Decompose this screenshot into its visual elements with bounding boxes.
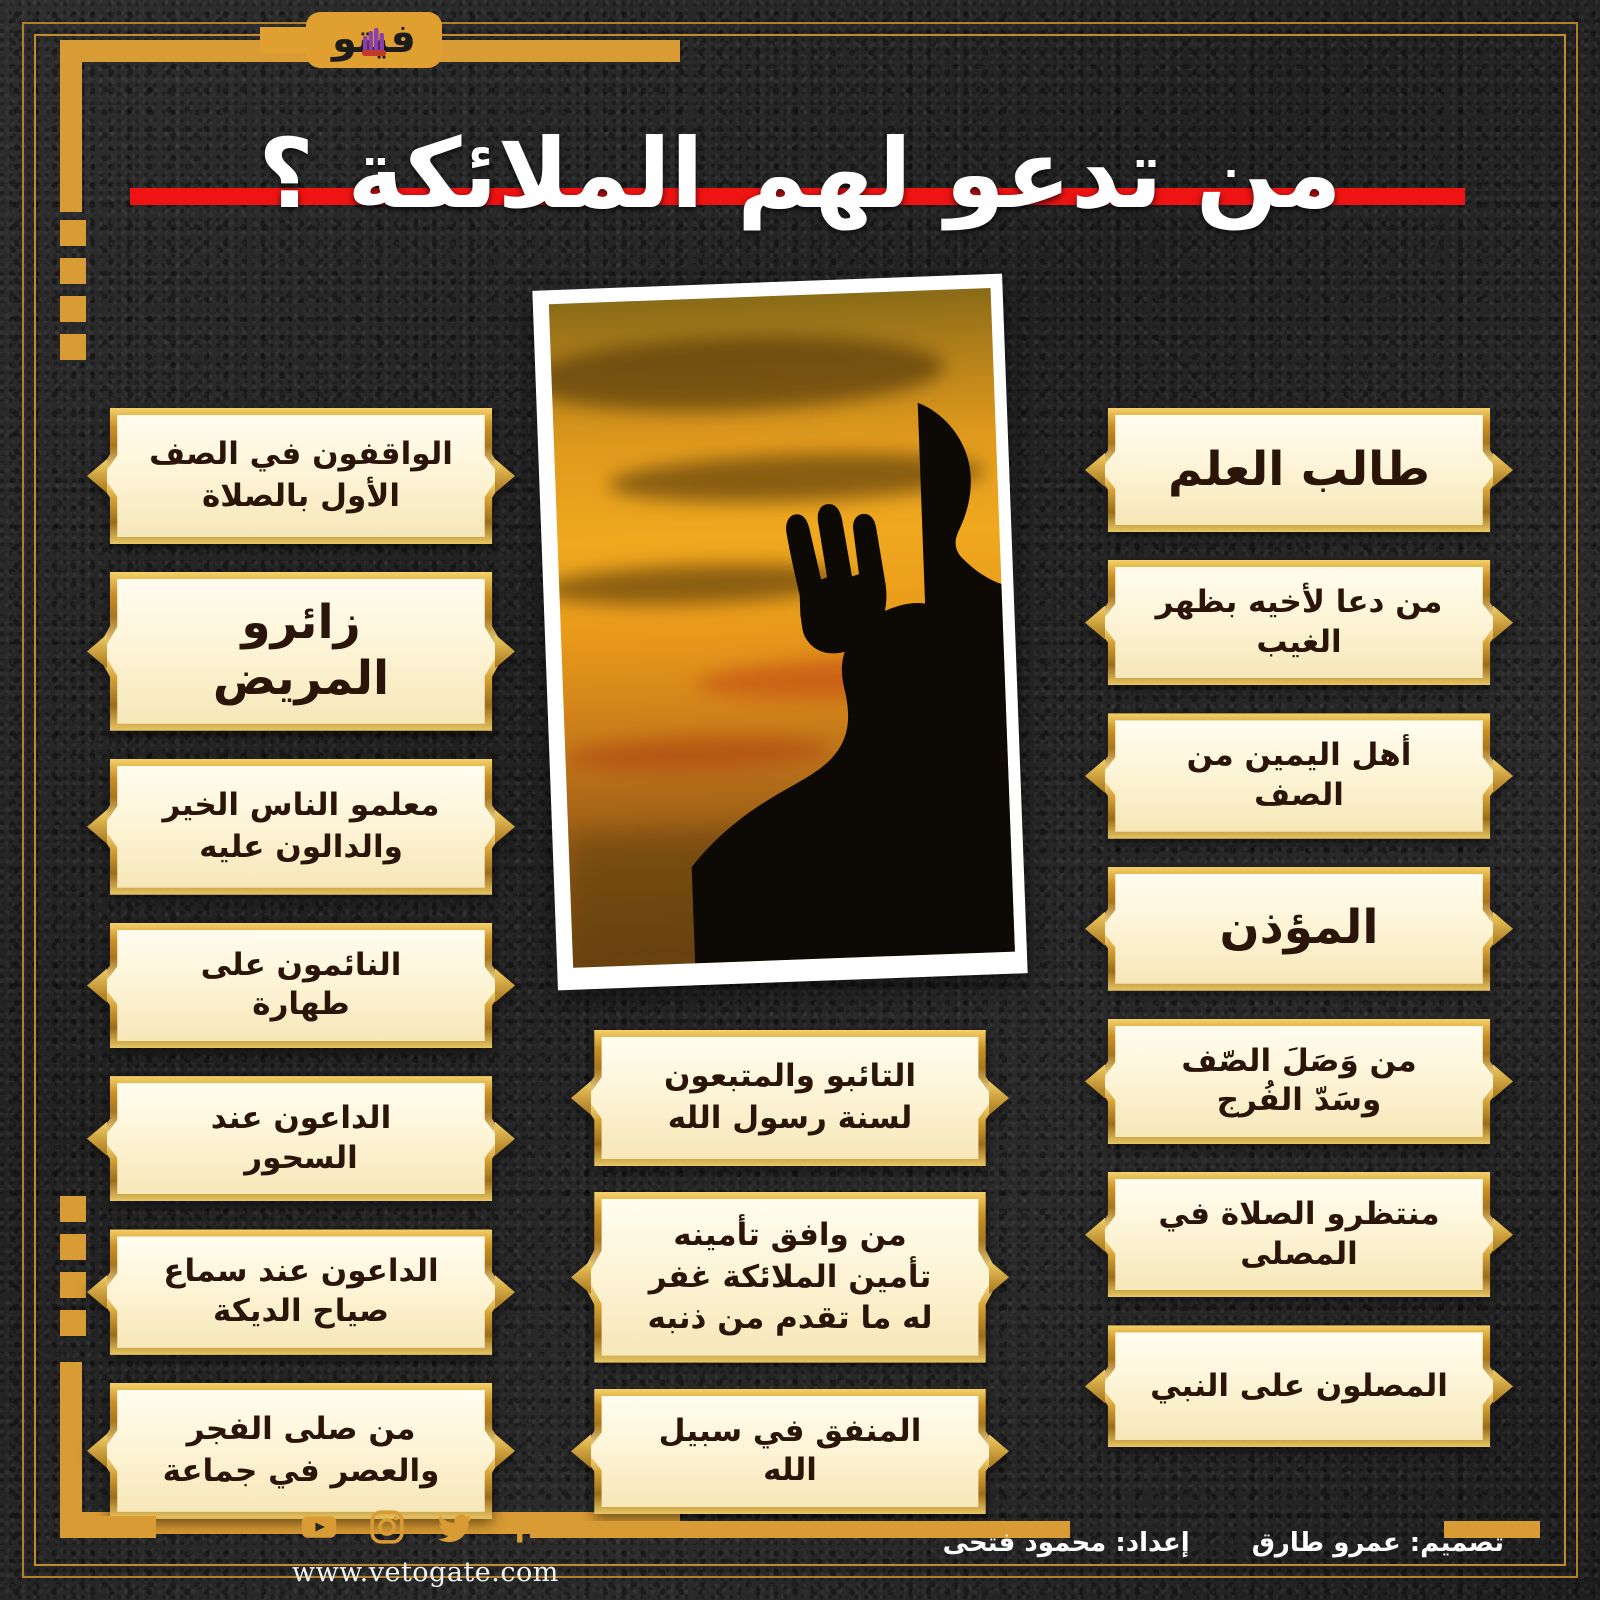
badge-point-left — [87, 810, 107, 844]
badge-label: معلمو الناس الخير والدالون عليه — [103, 766, 499, 888]
website-url[interactable]: www.vetogate.com — [292, 1557, 559, 1588]
badge-item: الداعون عند سماع صياح الديكة — [96, 1229, 506, 1354]
badge-point-right — [1493, 759, 1513, 793]
social-links — [300, 1508, 542, 1546]
badge-point-left — [1085, 1369, 1105, 1403]
logo-badge: فيتو — [306, 12, 442, 68]
hero-photo — [532, 274, 1027, 991]
badge-frame: النائمون على طهارة — [96, 923, 506, 1048]
badge-frame: الداعون عند سماع صياح الديكة — [96, 1229, 506, 1354]
badge-frame: زائرو المريض — [96, 572, 506, 731]
facebook-icon[interactable] — [504, 1508, 542, 1546]
badge-frame: منتظرو الصلاة في المصلى — [1094, 1172, 1504, 1297]
badge-point-right — [495, 459, 515, 493]
badge-item: من وَصَلَ الصّف وسَدّ الفُرج — [1094, 1019, 1504, 1144]
badge-label: من دعا لأخيه بظهر الغيب — [1101, 567, 1497, 678]
hand-icon — [361, 24, 387, 58]
badge-point-left — [87, 1434, 107, 1468]
badge-label: الواقفون في الصف الأول بالصلاة — [103, 415, 499, 537]
badge-frame: التائبو والمتبعون لسنة رسول الله — [580, 1030, 1000, 1166]
instagram-icon[interactable] — [368, 1508, 406, 1546]
badge-item: طالب العلم — [1094, 408, 1504, 532]
badge-point-right — [989, 1434, 1009, 1468]
badge-label: أهل اليمين من الصف — [1101, 720, 1497, 831]
badge-point-left — [87, 634, 107, 668]
badge-frame: من وَصَلَ الصّف وسَدّ الفُرج — [1094, 1019, 1504, 1144]
badge-point-right — [1493, 1064, 1513, 1098]
twitter-icon[interactable] — [436, 1508, 474, 1546]
badge-item: الواقفون في الصف الأول بالصلاة — [96, 408, 506, 544]
badge-point-left — [1085, 606, 1105, 640]
badge-frame: طالب العلم — [1094, 408, 1504, 532]
badge-frame: معلمو الناس الخير والدالون عليه — [96, 759, 506, 895]
badge-point-right — [1493, 1369, 1513, 1403]
badge-point-left — [87, 1275, 107, 1309]
footer-bar-left — [60, 1516, 156, 1538]
badge-label: زائرو المريض — [103, 579, 499, 724]
praying-silhouette-icon — [675, 392, 1015, 964]
badge-item: المؤذن — [1094, 867, 1504, 991]
badge-point-left — [1085, 1218, 1105, 1252]
infographic-canvas: فيتو من تدعو لهم الملائكة ؟ — [0, 0, 1600, 1600]
badge-label: منتظرو الصلاة في المصلى — [1101, 1179, 1497, 1290]
badge-frame: الداعون عند السحور — [96, 1076, 506, 1201]
badge-label: التائبو والمتبعون لسنة رسول الله — [587, 1037, 993, 1159]
credit-editor: إعداد: محمود فتحى — [943, 1528, 1190, 1558]
badge-column-left: الواقفون في الصف الأول بالصلاةزائرو المر… — [96, 408, 506, 1519]
badge-label: النائمون على طهارة — [103, 930, 499, 1041]
badge-item: أهل اليمين من الصف — [1094, 713, 1504, 838]
brand-logo[interactable]: فيتو — [268, 12, 442, 68]
badge-point-left — [1085, 1064, 1105, 1098]
badge-point-right — [1493, 606, 1513, 640]
badge-point-right — [495, 1275, 515, 1309]
badge-point-left — [571, 1260, 591, 1294]
badge-point-left — [571, 1081, 591, 1115]
dash-decor-bottom — [60, 1196, 86, 1348]
badge-point-right — [1493, 1218, 1513, 1252]
badge-label: المؤذن — [1101, 874, 1497, 984]
badge-label: المصلون على النبي — [1101, 1332, 1497, 1440]
badge-label: الداعون عند السحور — [103, 1083, 499, 1194]
badge-point-right — [495, 968, 515, 1002]
badge-label: من وَصَلَ الصّف وسَدّ الفُرج — [1101, 1026, 1497, 1137]
badge-frame: أهل اليمين من الصف — [1094, 713, 1504, 838]
badge-point-right — [495, 810, 515, 844]
badge-label: طالب العلم — [1101, 415, 1497, 525]
badge-item: الداعون عند السحور — [96, 1076, 506, 1201]
badge-point-right — [1493, 912, 1513, 946]
footer: www.vetogate.com تصميم: عمرو طارق إعداد:… — [0, 1480, 1600, 1600]
badge-column-right: طالب العلممن دعا لأخيه بظهر الغيبأهل الي… — [1094, 408, 1504, 1447]
badge-item: زائرو المريض — [96, 572, 506, 731]
badge-item: المصلون على النبي — [1094, 1325, 1504, 1447]
badge-item: من دعا لأخيه بظهر الغيب — [1094, 560, 1504, 685]
badge-point-left — [87, 1122, 107, 1156]
badge-point-right — [495, 1122, 515, 1156]
badge-point-right — [989, 1081, 1009, 1115]
badge-point-left — [1085, 453, 1105, 487]
youtube-icon[interactable] — [300, 1508, 338, 1546]
badge-column-center: التائبو والمتبعون لسنة رسول اللهمن وافق … — [580, 1030, 1000, 1514]
badge-frame: الواقفون في الصف الأول بالصلاة — [96, 408, 506, 544]
page-title: من تدعو لهم الملائكة ؟ — [0, 110, 1600, 240]
badge-point-left — [571, 1434, 591, 1468]
credit-designer: تصميم: عمرو طارق — [1252, 1528, 1504, 1558]
title-zone: من تدعو لهم الملائكة ؟ — [0, 110, 1600, 260]
credits: تصميم: عمرو طارق إعداد: محمود فتحى — [943, 1528, 1504, 1558]
badge-item: من وافق تأمينه تأمين الملائكة غفر له ما … — [580, 1192, 1000, 1363]
logo-tail-bar — [260, 27, 306, 53]
badge-point-left — [87, 968, 107, 1002]
badge-frame: من وافق تأمينه تأمين الملائكة غفر له ما … — [580, 1192, 1000, 1363]
badge-frame: المؤذن — [1094, 867, 1504, 991]
badge-point-right — [495, 1434, 515, 1468]
badge-point-right — [1493, 453, 1513, 487]
badge-label: من وافق تأمينه تأمين الملائكة غفر له ما … — [587, 1199, 993, 1356]
badge-point-right — [989, 1260, 1009, 1294]
badge-label: الداعون عند سماع صياح الديكة — [103, 1236, 499, 1347]
badge-point-left — [1085, 912, 1105, 946]
badge-point-left — [1085, 759, 1105, 793]
badge-frame: من دعا لأخيه بظهر الغيب — [1094, 560, 1504, 685]
badge-item: النائمون على طهارة — [96, 923, 506, 1048]
badge-point-right — [495, 634, 515, 668]
badge-item: التائبو والمتبعون لسنة رسول الله — [580, 1030, 1000, 1166]
badge-frame: المصلون على النبي — [1094, 1325, 1504, 1447]
photo-image — [549, 288, 1015, 968]
badge-point-left — [87, 459, 107, 493]
badge-item: منتظرو الصلاة في المصلى — [1094, 1172, 1504, 1297]
badge-item: معلمو الناس الخير والدالون عليه — [96, 759, 506, 895]
